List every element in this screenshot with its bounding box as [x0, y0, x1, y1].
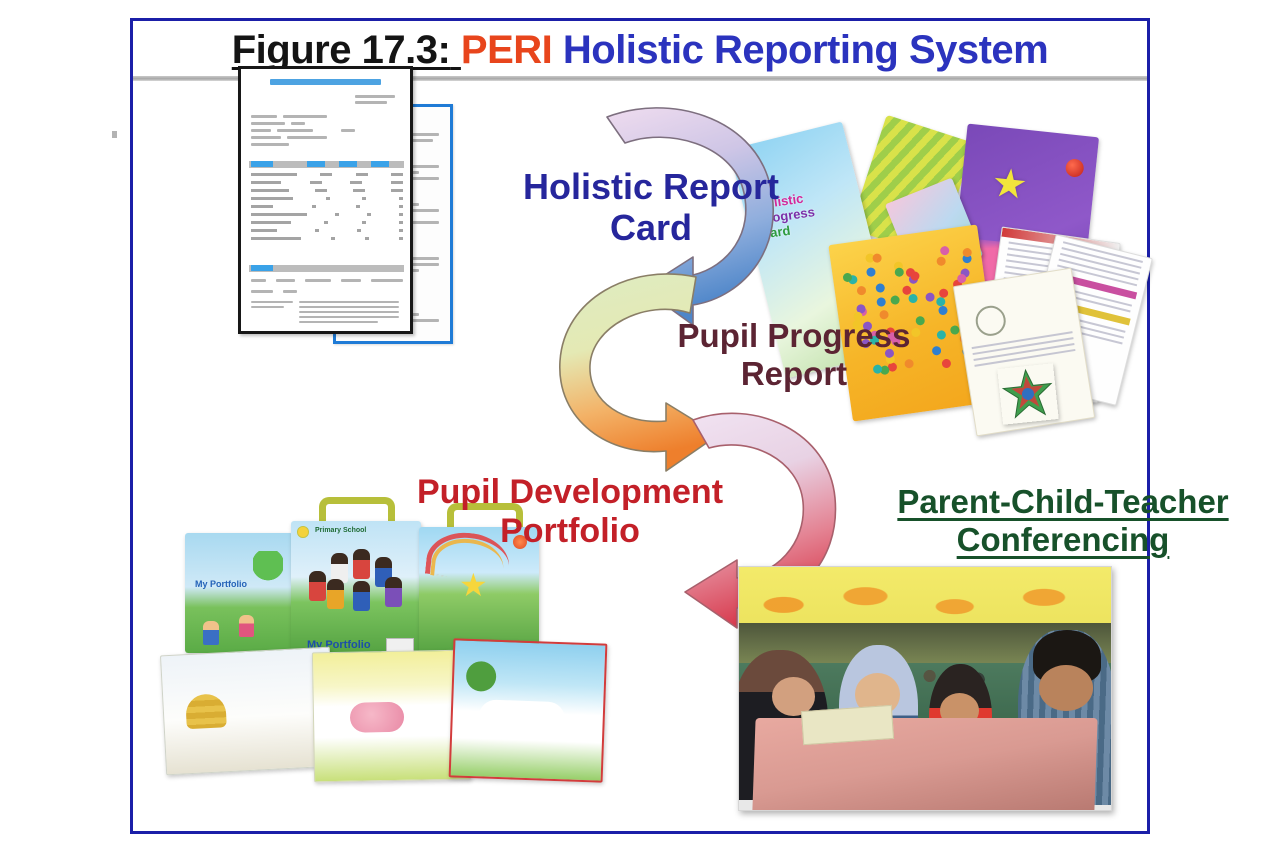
report-documents-image	[233, 66, 473, 356]
label-pct-line1: Parent-Child-Teacher	[853, 483, 1273, 521]
child-figure-icon	[239, 615, 254, 637]
folder-school-label: Primary School	[315, 527, 366, 534]
label-pupil-development-portfolio: Pupil Development Portfolio	[385, 473, 755, 551]
page-title: Figure 17.3: PERI Holistic Reporting Sys…	[133, 29, 1147, 71]
star-icon: ★	[459, 569, 488, 601]
tree-icon	[466, 661, 497, 692]
document-comment-paragraph	[299, 301, 404, 326]
beehive-icon	[185, 693, 227, 729]
portfolio-open-book-3	[449, 638, 608, 782]
label-hrc-line1: Holistic Report	[501, 166, 801, 207]
school-badge-icon	[297, 526, 309, 538]
document-comment-labels	[251, 301, 295, 311]
title-rest: Holistic Reporting System	[563, 28, 1048, 72]
report-document-front-sheet	[238, 66, 413, 334]
document-title-band	[270, 79, 382, 85]
label-ppr-line1: Pupil Progress	[639, 317, 949, 355]
portfolio-folder-blue: My Portfolio	[185, 533, 293, 653]
label-holistic-report-card: Holistic Report Card	[501, 166, 801, 249]
label-pct-line2: Conferencing	[853, 521, 1273, 559]
child-figure-icon	[203, 621, 219, 645]
label-pdp-line2: Portfolio	[385, 512, 755, 551]
collage-red-dot	[1065, 158, 1085, 178]
document-section-chip-3	[339, 161, 357, 167]
title-acronym: PERI	[461, 28, 552, 72]
cloud-icon	[478, 699, 565, 736]
star-icon: ★	[990, 163, 1030, 207]
document-assessment-table	[251, 173, 403, 245]
folder-label-blue: My Portfolio	[195, 579, 247, 589]
animal-icon	[350, 702, 405, 733]
collage-star-sticker	[997, 363, 1059, 425]
label-pdp-line1: Pupil Development	[385, 473, 755, 512]
children-illustration	[305, 549, 409, 611]
portfolio-open-book-2	[312, 650, 471, 783]
margin-speck	[112, 131, 117, 138]
document-section-chip-1	[251, 161, 273, 167]
seal-icon	[974, 304, 1008, 338]
label-hrc-line2: Card	[501, 207, 801, 248]
document-footer-rows	[251, 279, 403, 296]
photo-report-on-table	[801, 705, 894, 745]
label-parent-child-teacher-conferencing: Parent-Child-Teacher Conferencing	[853, 483, 1273, 559]
document-section-chip-4	[371, 161, 389, 167]
document-section-chip-2	[307, 161, 325, 167]
tree-icon	[253, 551, 283, 589]
label-pupil-progress-report: Pupil Progress Report	[639, 317, 949, 393]
conferencing-photo	[738, 566, 1112, 811]
document-meta-lines	[355, 95, 397, 107]
document-field-rows	[251, 115, 401, 150]
slide-frame: Figure 17.3: PERI Holistic Reporting Sys…	[130, 18, 1150, 834]
label-ppr-line2: Report	[639, 355, 949, 393]
portfolio-open-book-1	[160, 647, 336, 776]
document-section-chip-5	[251, 265, 273, 271]
